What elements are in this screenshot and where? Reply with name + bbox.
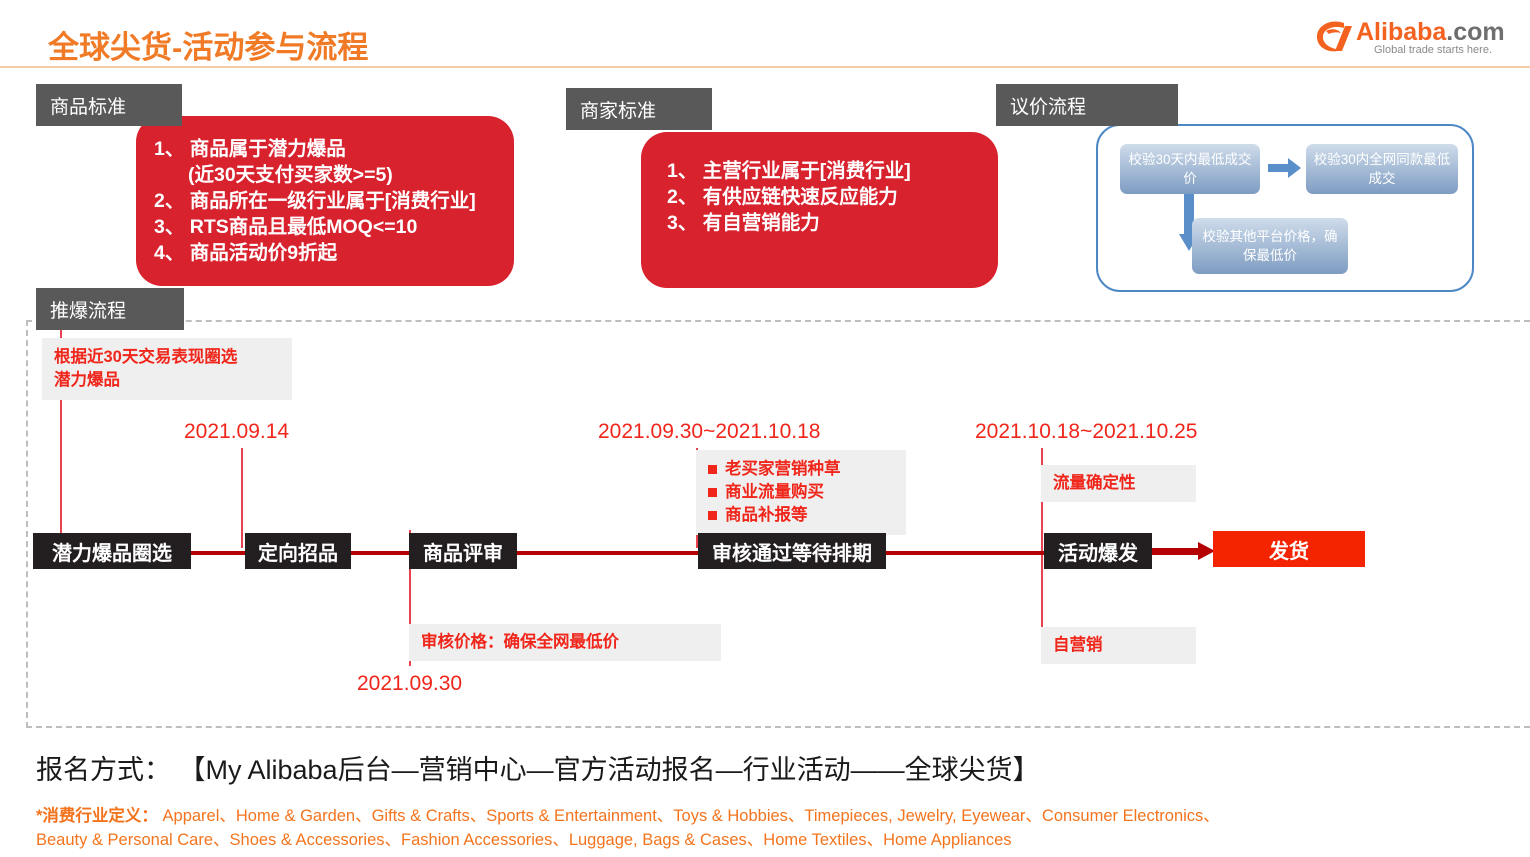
timeline-node-6-ship[interactable]: 发货 (1213, 531, 1365, 567)
note-traffic-certainty: 流量确定性 (1041, 465, 1196, 502)
footnote: *消费行业定义： Apparel、Home & Garden、Gifts & C… (36, 804, 1220, 852)
footnote-text-1: Apparel、Home & Garden、Gifts & Crafts、Spo… (158, 807, 1220, 825)
date-label-2: 2021.09.30~2021.10.18 (598, 420, 820, 444)
timeline-node-5-label: 活动爆发 (1058, 537, 1138, 566)
bullet-square-icon (708, 511, 717, 520)
bargain-step-3-label: 校验其他平台价格，确保最低价 (1198, 227, 1342, 265)
timeline-node-2-label: 定向招品 (258, 537, 338, 566)
merchant-criteria-line-1: 1、 主营行业属于[消费行业] (667, 158, 980, 184)
timeline-node-4[interactable]: 审核通过等待排期 (698, 533, 886, 569)
product-criteria-line-1: 1、 商品属于潜力爆品 (154, 136, 496, 162)
timeline-node-5[interactable]: 活动爆发 (1044, 533, 1152, 569)
logo-name: Alibaba (1356, 18, 1446, 46)
bargain-step-2-label: 校验30内全网同款最低成交 (1312, 150, 1452, 188)
tab-push-flow-label: 推爆流程 (50, 296, 126, 323)
timeline-node-2[interactable]: 定向招品 (245, 533, 351, 569)
bargain-step-1: 校验30天内最低成交价 (1120, 144, 1260, 194)
bargain-flow-panel: 校验30天内最低成交价 校验30内全网同款最低成交 校验其他平台价格，确保最低价 (1096, 124, 1474, 292)
footnote-line-2: Beauty & Personal Care、Shoes & Accessori… (36, 828, 1220, 852)
bargain-step-3: 校验其他平台价格，确保最低价 (1192, 218, 1348, 274)
tab-bargain-flow[interactable]: 议价流程 (996, 84, 1178, 126)
footnote-label: *消费行业定义： (36, 807, 158, 825)
tick-node-2 (241, 448, 243, 548)
merchant-criteria-line-2: 2、 有供应链快速反应能力 (667, 184, 980, 210)
note-bullet-2: 商业流量购买 (708, 481, 896, 504)
product-criteria-line-2: (近30天支付买家数>=5) (154, 162, 496, 188)
bargain-step-1-label: 校验30天内最低成交价 (1126, 150, 1254, 188)
tab-merchant-criteria-label: 商家标准 (580, 96, 656, 123)
bargain-step-2: 校验30内全网同款最低成交 (1306, 144, 1458, 194)
logo-wordmark: Alibaba.com (1356, 18, 1505, 47)
tab-merchant-criteria[interactable]: 商家标准 (566, 88, 712, 130)
note-intro-line-1: 根据近30天交易表现圈选 (54, 346, 282, 369)
note-bullet-2-label: 商业流量购买 (725, 481, 824, 504)
note-marketing-actions: 老买家营销种草 商业流量购买 商品补报等 (696, 450, 906, 535)
arrow-to-ship-icon (1152, 541, 1216, 561)
note-review-price: 审核价格：确保全网最低价 (409, 624, 721, 661)
note-bullet-3-label: 商品补报等 (725, 504, 808, 527)
note-bullet-1-label: 老买家营销种草 (725, 458, 841, 481)
signup-instructions: 报名方式： 【My Alibaba后台—营销中心—官方活动报名—行业活动——全球… (36, 748, 1040, 787)
arrow-right-icon (1268, 157, 1302, 179)
timeline-node-1-label: 潜力爆品圈选 (52, 537, 172, 566)
alibaba-mark-icon (1314, 20, 1358, 54)
tab-product-criteria-label: 商品标准 (50, 92, 126, 119)
logo-domain: .com (1446, 18, 1504, 46)
product-criteria-line-5: 4、 商品活动价9折起 (154, 240, 496, 266)
bullet-square-icon (708, 465, 717, 474)
timeline-node-3-label: 商品评审 (423, 537, 503, 566)
product-criteria-line-4: 3、 RTS商品且最低MOQ<=10 (154, 214, 496, 240)
page-title: 全球尖货-活动参与流程 (48, 22, 368, 67)
note-bullet-1: 老买家营销种草 (708, 458, 896, 481)
slide-root: 全球尖货-活动参与流程 Alibaba.com Global trade sta… (0, 0, 1530, 857)
date-label-1: 2021.09.14 (184, 420, 289, 444)
product-criteria-line-3: 2、 商品所在一级行业属于[消费行业] (154, 188, 496, 214)
date-label-4: 2021.09.30 (357, 672, 462, 696)
timeline-node-6-label: 发货 (1269, 535, 1309, 564)
timeline-axis (60, 551, 1205, 555)
note-intro: 根据近30天交易表现圈选 潜力爆品 (42, 338, 292, 400)
note-intro-line-2: 潜力爆品 (54, 369, 282, 392)
footnote-line-1: *消费行业定义： Apparel、Home & Garden、Gifts & C… (36, 804, 1220, 828)
header-divider (0, 66, 1530, 68)
note-self-marketing: 自营销 (1041, 627, 1196, 664)
product-criteria-box: 1、 商品属于潜力爆品 (近30天支付买家数>=5) 2、 商品所在一级行业属于… (136, 116, 514, 286)
bullet-square-icon (708, 488, 717, 497)
note-bullet-3: 商品补报等 (708, 504, 896, 527)
date-label-3: 2021.10.18~2021.10.25 (975, 420, 1197, 444)
timeline-node-3[interactable]: 商品评审 (409, 533, 517, 569)
tab-push-flow[interactable]: 推爆流程 (36, 288, 184, 330)
timeline-node-1[interactable]: 潜力爆品圈选 (33, 533, 191, 569)
alibaba-logo: Alibaba.com Global trade starts here. (1314, 16, 1504, 60)
tab-bargain-flow-label: 议价流程 (1010, 92, 1086, 119)
tab-product-criteria[interactable]: 商品标准 (36, 84, 182, 126)
logo-tagline: Global trade starts here. (1374, 44, 1492, 56)
timeline-node-4-label: 审核通过等待排期 (712, 537, 872, 566)
merchant-criteria-box: 1、 主营行业属于[消费行业] 2、 有供应链快速反应能力 3、 有自营销能力 (641, 132, 998, 288)
merchant-criteria-line-3: 3、 有自营销能力 (667, 210, 980, 236)
